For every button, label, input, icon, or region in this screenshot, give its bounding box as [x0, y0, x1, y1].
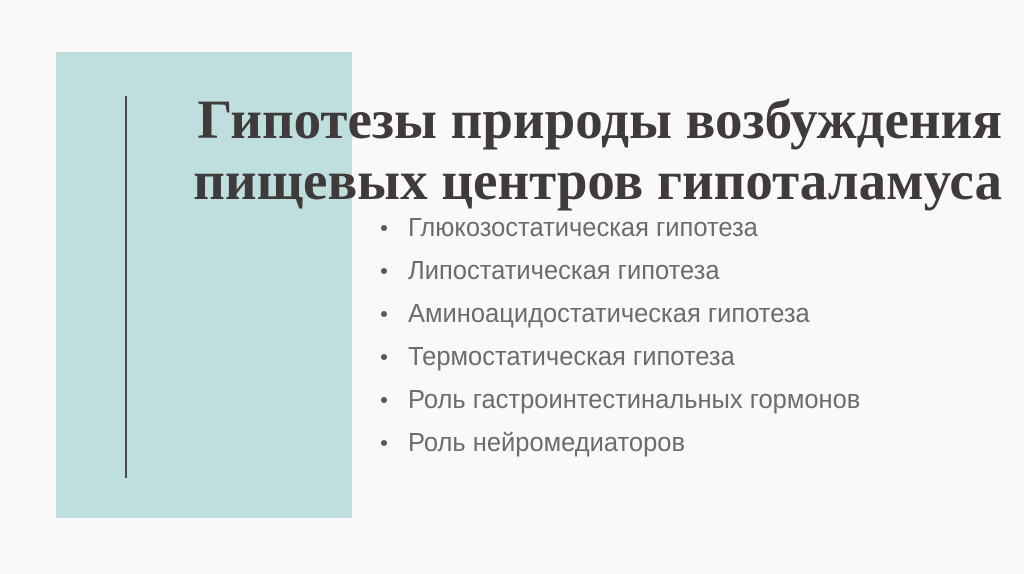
bullet-dot-icon — [381, 311, 387, 317]
bullet-dot-icon — [381, 268, 387, 274]
bullet-list: Глюкозостатическая гипотеза Липостатичес… — [378, 212, 1008, 459]
list-item: Роль нейромедиаторов — [378, 427, 1008, 459]
bullet-dot-icon — [381, 397, 387, 403]
slide-title: Гипотезы природы возбуждения пищевых цен… — [140, 89, 1002, 211]
list-item-label: Глюкозостатическая гипотеза — [408, 214, 758, 242]
list-item-label: Термостатическая гипотеза — [408, 343, 735, 371]
list-item: Роль гастроинтестинальных гормонов — [378, 384, 1008, 416]
bullet-dot-icon — [381, 440, 387, 446]
slide: Гипотезы природы возбуждения пищевых цен… — [0, 0, 1024, 574]
list-item: Липостатическая гипотеза — [378, 255, 1008, 287]
list-item-label: Аминоацидостатическая гипотеза — [408, 300, 810, 328]
vertical-rule-divider — [125, 96, 127, 478]
bullet-dot-icon — [381, 354, 387, 360]
list-item: Глюкозостатическая гипотеза — [378, 212, 1008, 244]
list-item-label: Липостатическая гипотеза — [408, 257, 720, 285]
bullet-dot-icon — [381, 225, 387, 231]
list-item: Термостатическая гипотеза — [378, 341, 1008, 373]
list-item-label: Роль нейромедиаторов — [408, 429, 685, 457]
list-item: Аминоацидостатическая гипотеза — [378, 298, 1008, 330]
list-item-label: Роль гастроинтестинальных гормонов — [408, 386, 860, 414]
